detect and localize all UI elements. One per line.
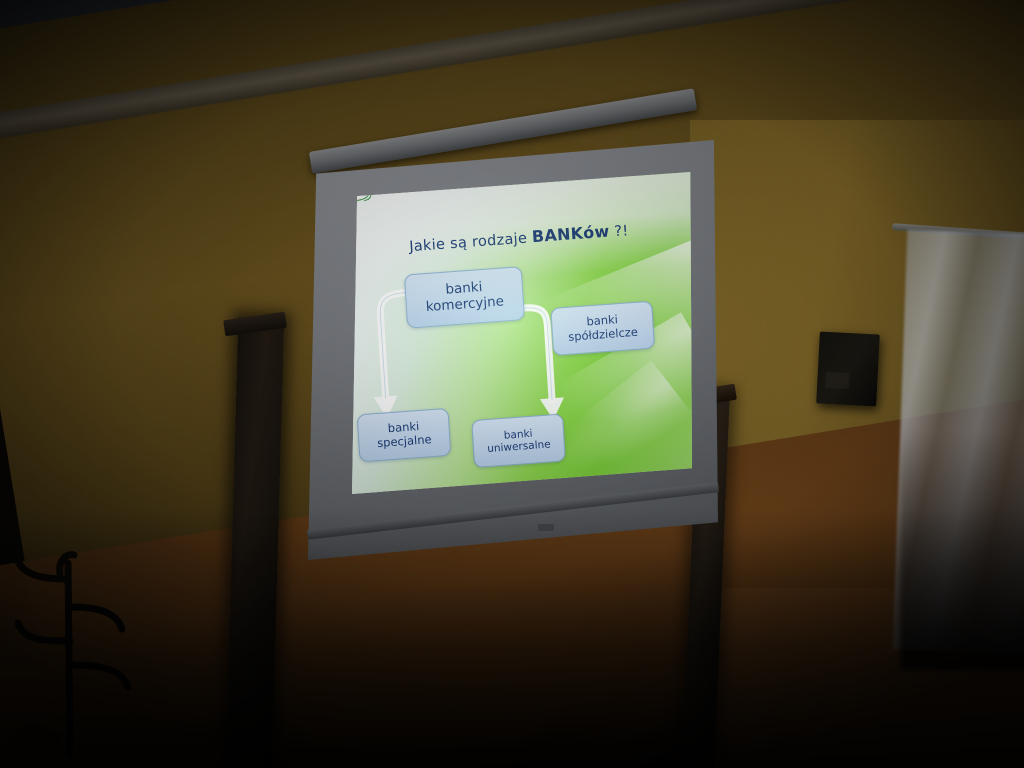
slide-canvas: SGB Kaszubski Bank Spółdzielczy Jakie są… xyxy=(352,172,692,494)
diagram-box-banki-specjalne[interactable]: banki specjalne xyxy=(357,408,452,463)
wall-speaker xyxy=(816,331,880,406)
slide-projection: SGB Kaszubski Bank Spółdzielczy Jakie są… xyxy=(352,172,692,494)
box-line-2: spółdzielcze xyxy=(568,326,639,345)
box-line-2: specjalne xyxy=(377,433,432,451)
box-line-2: komercyjne xyxy=(425,294,504,316)
coat-rack xyxy=(0,545,170,768)
room-scene: SGB Kaszubski Bank Spółdzielczy Jakie są… xyxy=(0,0,1024,768)
box-line-2: uniwersalne xyxy=(487,438,551,455)
curtain-shadow xyxy=(900,430,1024,670)
projection-screen: SGB Kaszubski Bank Spółdzielczy Jakie są… xyxy=(300,120,730,560)
diagram-box-banki-spoldzielcze[interactable]: banki spółdzielcze xyxy=(550,301,655,356)
speaker-grill xyxy=(825,372,850,389)
diagram-box-banki-komercyjne[interactable]: banki komercyjne xyxy=(404,266,525,329)
diagram-box-banki-uniwersalne[interactable]: banki uniwersalne xyxy=(471,413,566,468)
screen-pull-tab[interactable] xyxy=(538,524,554,531)
